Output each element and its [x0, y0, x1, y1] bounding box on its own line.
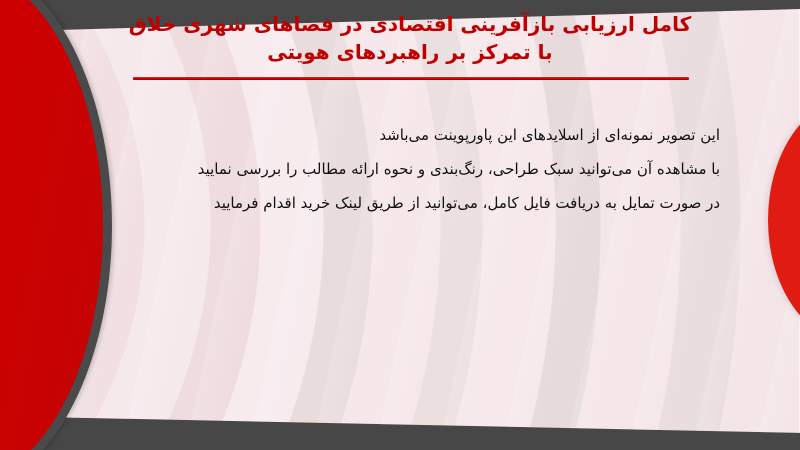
slide-background [0, 0, 800, 450]
slide-canvas: کامل ارزیابی بازآفرینی اقتصادی در فضاهای… [0, 0, 800, 450]
slide-title: کامل ارزیابی بازآفرینی اقتصادی در فضاهای… [120, 10, 700, 67]
body-line-3: در صورت تمایل به دریافت فایل کامل، می‌تو… [60, 186, 720, 220]
title-line-1: کامل ارزیابی بازآفرینی اقتصادی در فضاهای… [120, 10, 700, 38]
title-divider-rule [133, 77, 689, 80]
slide-body-text: این تصویر نمونه‌ای از اسلایدهای این پاور… [60, 118, 720, 221]
title-line-2: با تمرکز بر راهبردهای هویتی [120, 38, 700, 66]
body-line-1: این تصویر نمونه‌ای از اسلایدهای این پاور… [60, 118, 720, 152]
body-line-2: با مشاهده آن می‌توانید سبک طراحی، رنگ‌بن… [60, 152, 720, 186]
